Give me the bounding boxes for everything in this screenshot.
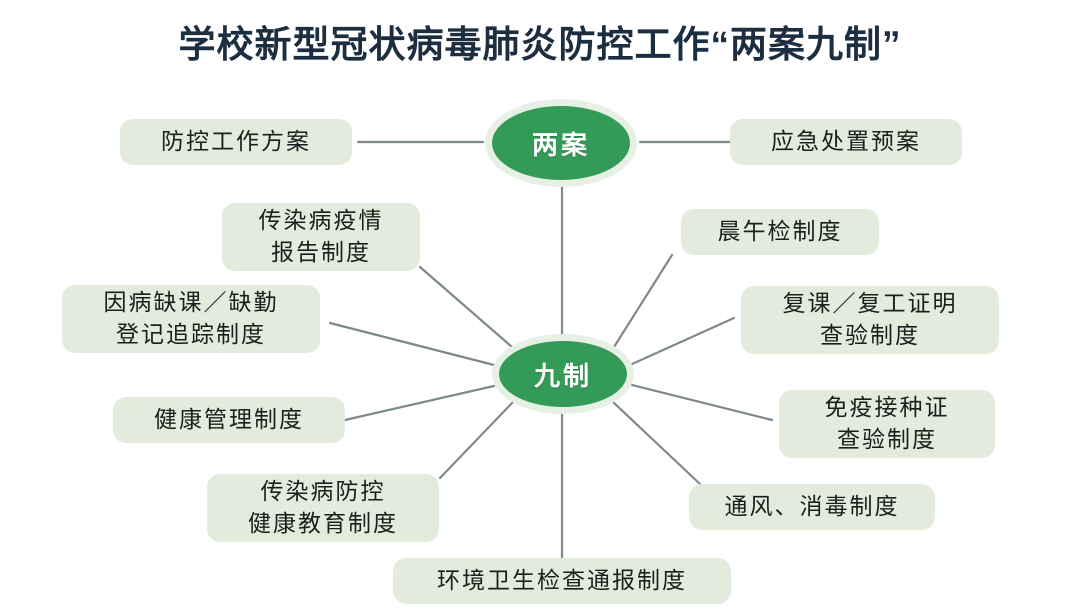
node-label-line1: 防控工作方案 bbox=[161, 127, 311, 157]
node-label-line1: 复课／复工证明 bbox=[783, 289, 958, 319]
hub-liangan-label: 两案 bbox=[532, 125, 590, 162]
link-jiuzhi-to-chenwujian bbox=[614, 255, 672, 347]
hub-liangan[interactable]: 两案 bbox=[492, 106, 630, 180]
node-label-line1: 传染病防控 bbox=[261, 477, 386, 507]
node-yingji-chuzhi-yuan[interactable]: 应急处置预案 bbox=[730, 119, 962, 165]
node-label-line1: 通风、消毒制度 bbox=[725, 492, 900, 522]
node-fangkong-gongzuo-fangan[interactable]: 防控工作方案 bbox=[120, 119, 352, 165]
node-label-line2: 查验制度 bbox=[837, 425, 937, 455]
link-jiuzhi-to-fuke-fugong-zhengming bbox=[632, 318, 734, 364]
node-mianyi-jiezhongzheng[interactable]: 免疫接种证 查验制度 bbox=[779, 390, 995, 458]
node-label-line2: 登记追踪制度 bbox=[116, 320, 266, 350]
node-label-line1: 因病缺课／缺勤 bbox=[104, 288, 279, 318]
node-jiankang-guanli[interactable]: 健康管理制度 bbox=[113, 397, 345, 443]
node-label-line1: 晨午检制度 bbox=[718, 217, 843, 247]
node-fuke-fugong-zhengming[interactable]: 复课／复工证明 查验制度 bbox=[741, 286, 999, 354]
node-label-line1: 健康管理制度 bbox=[154, 405, 304, 435]
node-chuanranbing-yiqing-baogao[interactable]: 传染病疫情 报告制度 bbox=[222, 203, 420, 271]
node-huanjing-weisheng-tongbao[interactable]: 环境卫生检查通报制度 bbox=[393, 558, 731, 604]
link-jiuzhi-to-tongfeng-xiaodu bbox=[613, 402, 700, 484]
hub-jiuzhi[interactable]: 九制 bbox=[499, 341, 627, 407]
node-chenwujian[interactable]: 晨午检制度 bbox=[681, 209, 879, 255]
node-label-line1: 应急处置预案 bbox=[771, 127, 921, 157]
diagram-canvas: 学校新型冠状病毒肺炎防控工作“两案九制” 两案 九制 防控工作方案 应急处置预案… bbox=[0, 0, 1080, 611]
link-jiuzhi-to-yinbing-quexue-dengji bbox=[330, 323, 494, 365]
node-tongfeng-xiaodu[interactable]: 通风、消毒制度 bbox=[689, 484, 935, 530]
node-chuanranbing-fangkong-jiaoyu[interactable]: 传染病防控 健康教育制度 bbox=[207, 474, 439, 542]
hub-jiuzhi-label: 九制 bbox=[534, 356, 592, 393]
node-label-line2: 报告制度 bbox=[271, 238, 371, 268]
link-jiuzhi-to-jiankang-guanli bbox=[345, 386, 494, 420]
node-label-line1: 传染病疫情 bbox=[259, 206, 384, 236]
node-label-line1: 环境卫生检查通报制度 bbox=[437, 566, 687, 596]
node-label-line2: 查验制度 bbox=[820, 321, 920, 351]
node-label-line2: 健康教育制度 bbox=[248, 509, 398, 539]
link-jiuzhi-to-chuanranbing-fangkong-jiaoyu bbox=[440, 402, 513, 478]
link-jiuzhi-to-chuanranbing-yiqing-baogao bbox=[420, 267, 512, 347]
node-yinbing-quexue-dengji[interactable]: 因病缺课／缺勤 登记追踪制度 bbox=[62, 285, 320, 353]
node-label-line1: 免疫接种证 bbox=[825, 393, 950, 423]
link-jiuzhi-to-mianyi-jiezhongzheng bbox=[632, 385, 772, 420]
